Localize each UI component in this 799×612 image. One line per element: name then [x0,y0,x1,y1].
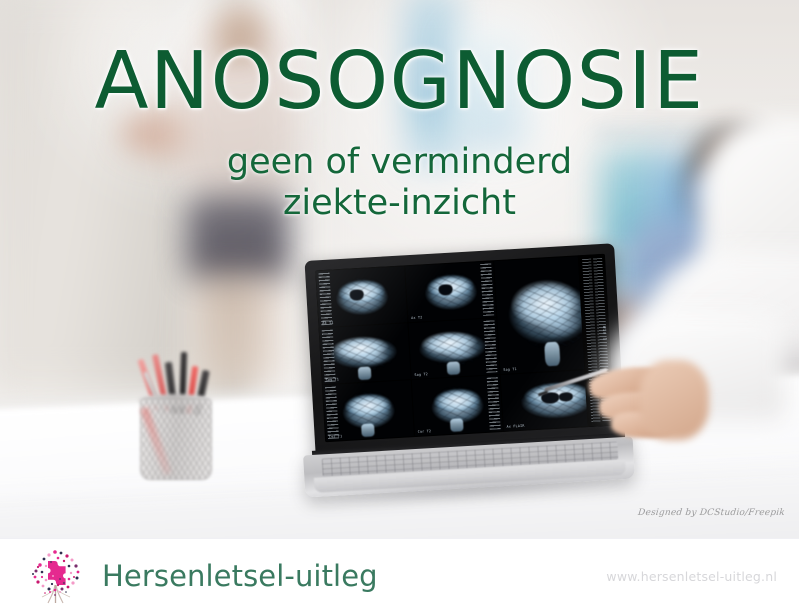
scan-metadata-text [318,273,332,326]
brand-block[interactable]: Hersenletsel-uitleg [24,545,378,607]
mri-slice: Sag T2 [408,318,499,379]
mri-scan-grid: Ax T1 Ax T2 Sag T1 [315,254,614,442]
mri-slice: Ax T1 [316,266,407,327]
pointing-hand [585,352,705,462]
page-subtitle: geen of verminderd ziekte-inzicht [0,142,799,225]
subtitle-line-2: ziekte-inzicht [0,183,799,224]
background-photo: Ax T1 Ax T2 Sag T1 [0,0,799,538]
mri-slice: Sag T1 [320,323,411,384]
brand-name: Hersenletsel-uitleg [102,559,378,593]
brainstem [447,362,460,375]
scan-metadata-text [483,320,497,373]
poster: Ax T1 Ax T2 Sag T1 [0,0,799,612]
slice-label: Sag T1 [326,377,340,382]
slice-label: Cor T2 [418,429,432,434]
brainstem [450,419,463,432]
slice-label: Ax T2 [411,315,422,320]
brainstem [544,341,561,367]
mri-slice: Ax T2 [405,261,496,322]
slice-label: Sag T1 [503,367,517,372]
brain-tree-logo [24,545,88,607]
image-credit: Designed by DCStudio/Freepik [638,508,786,518]
slice-label: Cor T1 [329,434,343,439]
site-url: www.hersenletsel-uitleg.nl [606,569,777,584]
subtitle-line-1: geen of verminderd [0,142,799,183]
mri-slice: Cor T1 [323,380,414,441]
brainstem [361,424,374,437]
slice-label: Sag T2 [414,372,428,377]
scan-metadata-text [480,263,494,316]
scan-metadata-text [325,386,339,439]
laptop-screen: Ax T1 Ax T2 Sag T1 [315,254,614,442]
slice-label: Ax T1 [322,321,333,326]
scan-sidebar-label: Win 1 [602,326,608,341]
page-title: ANOSOGNOSIE [0,42,799,121]
slice-label: Ax FLAIR [506,424,524,429]
footer: Hersenletsel-uitleg www.hersenletsel-uit… [0,538,799,612]
scan-metadata-text [322,330,336,383]
mri-slice: Cor T2 [412,375,503,436]
pencil-cup [118,352,238,482]
scan-metadata-text [487,377,501,430]
hand-knuckles [639,360,709,440]
brainstem [358,367,371,380]
